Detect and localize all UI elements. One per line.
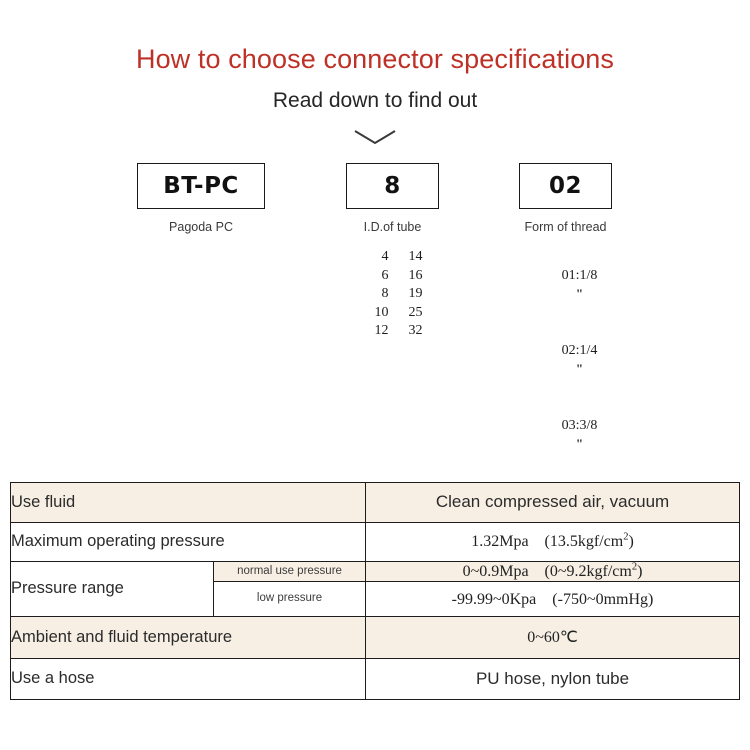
inch-mark: " [576, 436, 583, 451]
spec-label-temperature: Ambient and fluid temperature [11, 617, 366, 659]
option-value-a: 4 [363, 248, 389, 267]
code-caption-tube-id: I.D.of tube [346, 220, 439, 235]
spec-value-normal-use-pressure: 0~0.9Mpa (0~9.2kgf/cm2) [366, 562, 740, 582]
chevron-down-icon [351, 127, 399, 147]
spec-value-max-pressure-tail: ) [628, 533, 633, 550]
spec-value-normal-tail: ) [637, 563, 642, 580]
option-list-tube-id: 4 14 6 16 8 19 10 25 12 32 [346, 248, 439, 341]
table-row: Use fluid Clean compressed air, vacuum [11, 483, 740, 523]
inch-mark: " [576, 286, 583, 301]
option-value-a: 10 [363, 304, 389, 323]
breakdown-column-tube-id: 8 I.D.of tube 4 14 6 16 8 19 10 25 12 32 [346, 163, 439, 341]
option-value-b: 14 [389, 248, 423, 267]
spec-sublabel-low-pressure: low pressure [214, 582, 366, 617]
table-row: Maximum operating pressure 1.32Mpa (13.5… [11, 523, 740, 562]
list-item: 01:1/8 " [519, 248, 612, 323]
inch-mark: " [576, 361, 583, 376]
spec-sublabel-normal-use-pressure: normal use pressure [214, 562, 366, 582]
code-box-thread: 02 [519, 163, 612, 209]
option-value-a: 6 [363, 267, 389, 286]
page-title: How to choose connector specifications [0, 44, 750, 75]
spec-label-max-pressure: Maximum operating pressure [11, 523, 366, 562]
code-box-tube-id-text: 8 [384, 175, 401, 198]
chevron-container [0, 127, 750, 157]
page-subtitle: Read down to find out [0, 89, 750, 113]
option-value: 03:3/8 [562, 418, 598, 433]
spec-value-temperature-text: 0~60℃ [527, 629, 578, 646]
code-box-tube-id: 8 [346, 163, 439, 209]
spec-value-low-pressure-text: -99.99~0Kpa (-750~0mmHg) [452, 591, 654, 608]
spec-value-use-fluid: Clean compressed air, vacuum [366, 483, 740, 523]
spec-value-normal-main: 0~0.9Mpa (0~9.2kgf/cm [463, 563, 632, 580]
spec-label-use-fluid: Use fluid [11, 483, 366, 523]
list-item: 4 14 [346, 248, 439, 267]
list-item: 8 19 [346, 285, 439, 304]
part-number-breakdown: BT-PC Pagoda PC 8 I.D.of tube 4 14 6 16 … [0, 163, 750, 363]
option-value-b: 32 [389, 322, 423, 341]
breakdown-column-series: BT-PC Pagoda PC [137, 163, 265, 235]
list-item: 12 32 [346, 322, 439, 341]
option-value: 02:1/4 [562, 343, 598, 358]
spec-value-hose: PU hose, nylon tube [366, 659, 740, 700]
spec-value-max-pressure: 1.32Mpa (13.5kgf/cm2) [366, 523, 740, 562]
specification-table: Use fluid Clean compressed air, vacuum M… [10, 482, 740, 700]
code-box-thread-text: 02 [549, 175, 582, 198]
spec-label-hose: Use a hose [11, 659, 366, 700]
spec-value-temperature: 0~60℃ [366, 617, 740, 659]
code-box-series-text: BT-PC [163, 175, 239, 198]
table-row: Pressure range normal use pressure 0~0.9… [11, 562, 740, 582]
option-value-a: 8 [363, 285, 389, 304]
code-caption-thread: Form of thread [519, 220, 612, 235]
code-caption-series: Pagoda PC [137, 220, 265, 235]
list-item: 02:1/4 " [519, 323, 612, 398]
spec-value-max-pressure-main: 1.32Mpa (13.5kgf/cm [471, 533, 623, 550]
table-row: Ambient and fluid temperature 0~60℃ [11, 617, 740, 659]
option-value-a: 12 [363, 322, 389, 341]
page-header: How to choose connector specifications R… [0, 0, 750, 113]
table-row: Use a hose PU hose, nylon tube [11, 659, 740, 700]
option-value-b: 16 [389, 267, 423, 286]
spec-label-pressure-range: Pressure range [11, 562, 214, 617]
option-value: 01:1/8 [562, 268, 598, 283]
list-item: 03:3/8 " [519, 398, 612, 473]
spec-value-low-pressure: -99.99~0Kpa (-750~0mmHg) [366, 582, 740, 617]
list-item: 6 16 [346, 267, 439, 286]
option-value-b: 19 [389, 285, 423, 304]
list-item: 10 25 [346, 304, 439, 323]
code-box-series: BT-PC [137, 163, 265, 209]
option-value-b: 25 [389, 304, 423, 323]
